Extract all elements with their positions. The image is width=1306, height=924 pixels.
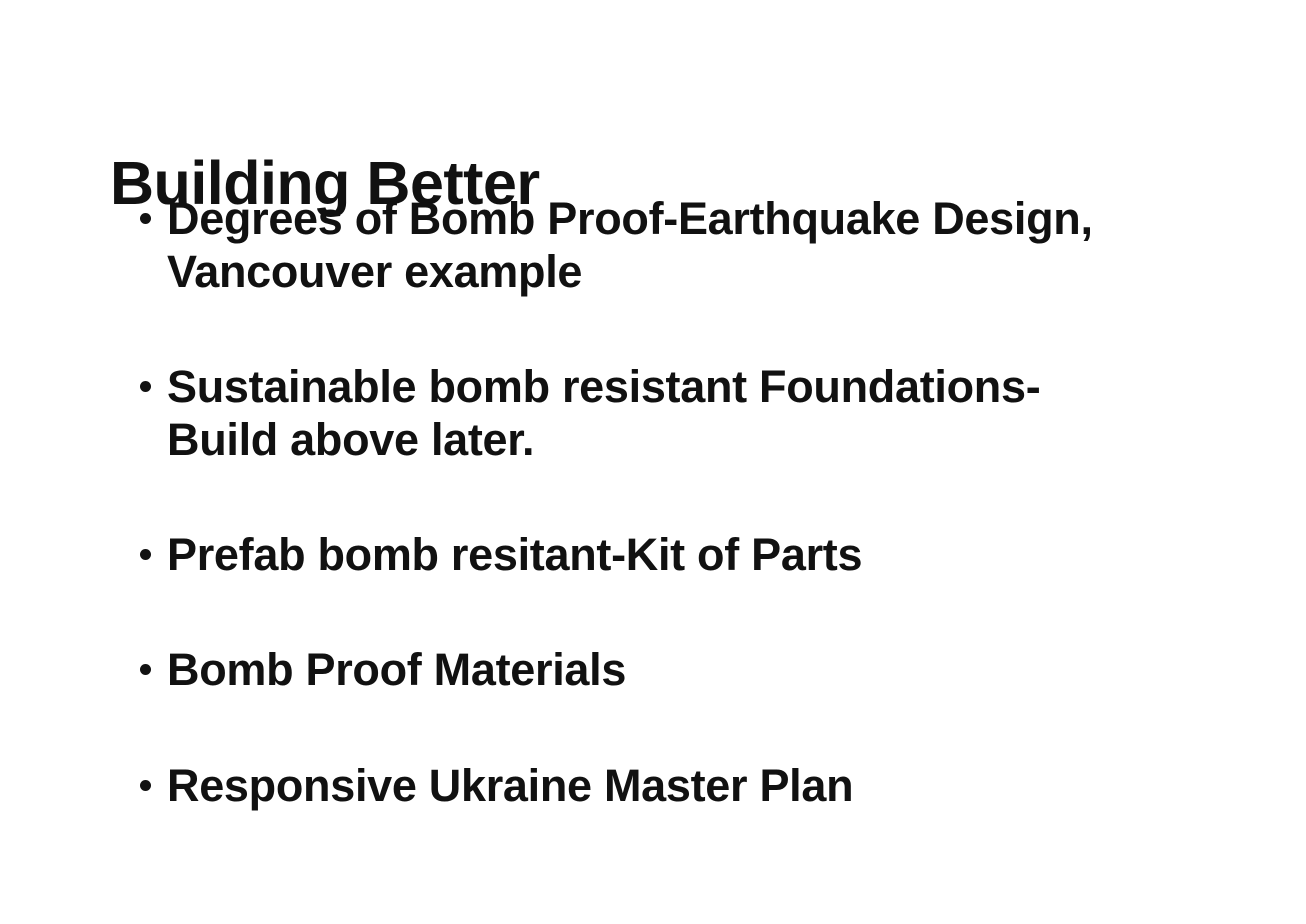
bullet-dot-icon [140,664,151,675]
list-item: Prefab bomb resitant-Kit of Parts [140,528,1150,581]
list-item: Bomb Proof Materials [140,643,1150,696]
bullet-dot-icon [140,780,151,791]
bullet-dot-icon [140,549,151,560]
list-item-label: Sustainable bomb resistant Foundations-B… [167,360,1150,466]
list-item: Degrees of Bomb Proof-Earthquake Design,… [140,192,1150,298]
bullet-dot-icon [140,213,151,224]
list-item-label: Degrees of Bomb Proof-Earthquake Design,… [167,192,1150,298]
slide-canvas: Building Better Degrees of Bomb Proof-Ea… [0,0,1306,924]
list-item-label: Bomb Proof Materials [167,643,1150,696]
list-item-label: Prefab bomb resitant-Kit of Parts [167,528,1150,581]
list-item-label: Responsive Ukraine Master Plan [167,759,1150,812]
bullet-list: Degrees of Bomb Proof-Earthquake Design,… [140,192,1150,812]
bullet-dot-icon [140,381,151,392]
list-item: Sustainable bomb resistant Foundations-B… [140,360,1150,466]
list-item: Responsive Ukraine Master Plan [140,759,1150,812]
